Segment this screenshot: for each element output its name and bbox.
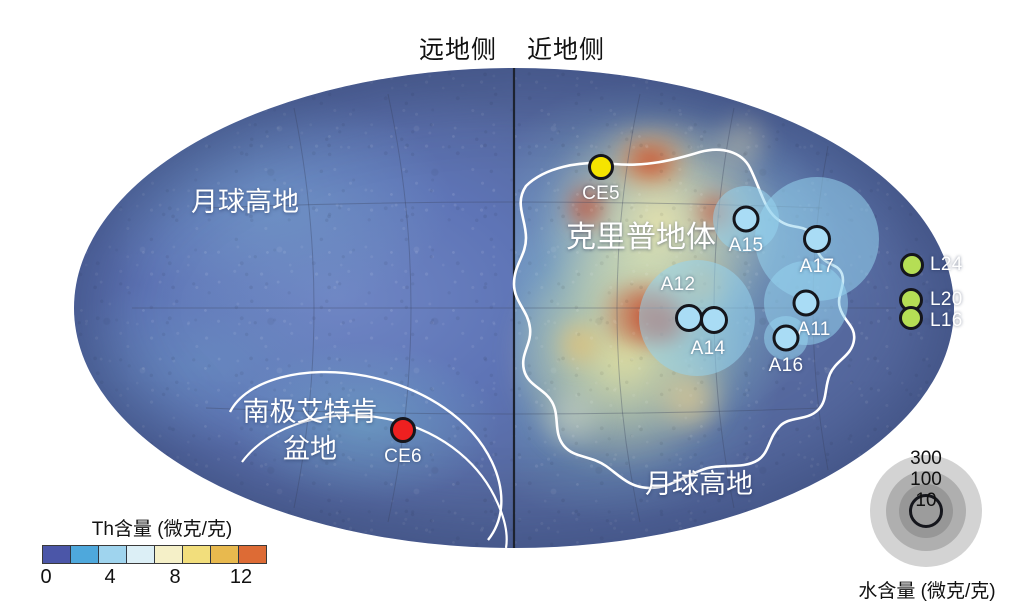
terrain-label-highlands-farside: 月球高地: [191, 180, 299, 219]
terrain-label-kreep-terrane: 克里普地体: [566, 212, 716, 256]
terrain-label-spa-basin-line1: 南极艾特肯: [243, 390, 378, 429]
thorium-colorbar: Th含量 (微克/克) 0 4 8 12: [42, 514, 282, 588]
thorium-colorbar-gradient: [42, 545, 267, 564]
water-legend-label-10: 10: [915, 490, 936, 512]
water-legend-label-300: 300: [910, 448, 942, 470]
colorbar-segment-4: [127, 546, 155, 563]
terrain-label-highlands-nearside: 月球高地: [645, 462, 753, 501]
colorbar-segment-6: [183, 546, 211, 563]
thorium-colorbar-title: Th含量 (微克/克): [42, 514, 282, 541]
water-legend-circles: 300 100 10: [867, 452, 985, 570]
colorbar-segment-7: [211, 546, 239, 563]
colorbar-segment-2: [71, 546, 99, 563]
colorbar-segment-5: [155, 546, 183, 563]
colorbar-segment-1: [43, 546, 71, 563]
colorbar-segment-3: [99, 546, 127, 563]
thorium-colorbar-ticks: 0 4 8 12: [42, 564, 267, 588]
colorbar-segment-8: [239, 546, 266, 563]
colorbar-tick-0: 0: [40, 566, 51, 589]
colorbar-tick-12: 12: [230, 566, 252, 589]
terrain-label-spa-basin-line2: 盆地: [283, 427, 337, 466]
colorbar-tick-8: 8: [169, 566, 180, 589]
water-content-legend: 300 100 10 水含量 (微克/克): [856, 452, 996, 570]
water-legend-title: 水含量 (微克/克): [832, 576, 1022, 603]
water-legend-label-100: 100: [910, 469, 942, 491]
lunar-map-figure: 远地侧 近地侧: [0, 0, 1024, 609]
colorbar-tick-4: 4: [104, 566, 115, 589]
